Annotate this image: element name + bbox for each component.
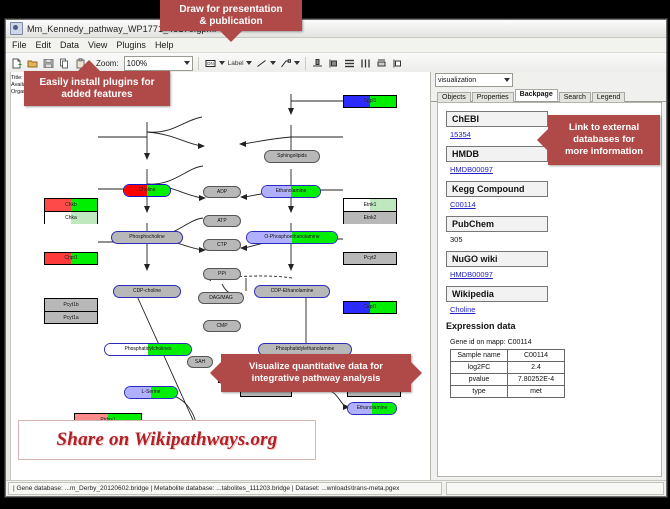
window-titlebar: Mm_Kennedy_pathway_WP1771_45176.gpml bbox=[6, 20, 666, 38]
pathway-canvas[interactable]: Title: Availab Organis bbox=[6, 72, 431, 480]
node-label: Chkb bbox=[65, 202, 77, 208]
size-equal-icon[interactable] bbox=[375, 57, 388, 70]
statusbar-databases: | Gene database: ...m_Derby_20120602.bri… bbox=[8, 482, 442, 495]
menu-item-edit[interactable]: Edit bbox=[36, 40, 52, 50]
node-label: Sgpl1 bbox=[364, 99, 377, 104]
label-button-text: Label bbox=[228, 60, 244, 67]
node-label: L-Serine bbox=[142, 390, 161, 395]
node-label: Ethanolamine bbox=[276, 189, 307, 194]
toolbar-separator bbox=[305, 57, 306, 70]
callout-viz-line1: Visualize quantitative data for bbox=[249, 361, 383, 373]
node-cmp[interactable]: CMP bbox=[203, 320, 241, 332]
toolbar-separator bbox=[198, 57, 199, 70]
table-row: Sample name C00114 bbox=[451, 350, 565, 362]
cell-value: 2.4 bbox=[508, 362, 565, 374]
node-l-serine-left[interactable]: L-Serine bbox=[124, 386, 178, 399]
node-label: PPi bbox=[218, 272, 226, 277]
node-adp[interactable]: ADP bbox=[203, 186, 241, 198]
node-label: DAG/MAG bbox=[209, 296, 233, 301]
menubar: File Edit Data View Plugins Help bbox=[6, 38, 666, 53]
cell-key: Sample name bbox=[451, 350, 508, 362]
visualization-combobox[interactable]: visualization bbox=[435, 73, 513, 87]
nugo-link[interactable]: HMDB00097 bbox=[450, 270, 661, 279]
section-heading: Wikipedia bbox=[446, 286, 548, 302]
node-label: Etnk2 bbox=[364, 215, 377, 221]
section-heading: PubChem bbox=[446, 216, 548, 232]
gene-row-pcyt1b[interactable]: Pcyt1b bbox=[45, 299, 97, 311]
chevron-down-icon bbox=[246, 61, 252, 65]
gene-row-chkb[interactable]: Chkb bbox=[45, 199, 97, 211]
callout-plugins: Easily install plugins for added feature… bbox=[24, 71, 170, 106]
node-o-phosphoethanolamine[interactable]: O-Phosphoethanolamine bbox=[246, 231, 338, 244]
tab-search[interactable]: Search bbox=[559, 92, 591, 102]
node-cdp-ethanolamine[interactable]: CDP-Ethanolamine bbox=[254, 285, 330, 298]
cell-key: type bbox=[451, 386, 508, 398]
pathvisio-app-icon bbox=[10, 22, 23, 35]
expression-table: Sample name C00114 log2FC 2.4 pvalue 7.8… bbox=[450, 349, 565, 398]
label-dropdown[interactable]: Label bbox=[228, 60, 252, 67]
node-label: Chka bbox=[65, 215, 77, 221]
backpage-section-nugo: NuGO wiki HMDB00097 bbox=[446, 249, 661, 279]
tab-legend[interactable]: Legend bbox=[592, 92, 625, 102]
statusbar: | Gene database: ...m_Derby_20120602.bri… bbox=[6, 480, 666, 496]
node-sphingolipids[interactable]: Sphingolipids bbox=[264, 150, 320, 163]
callout-plugins-arrow bbox=[78, 60, 100, 71]
chevron-down-icon bbox=[270, 61, 276, 65]
node-label: Choline bbox=[139, 188, 156, 193]
callout-links: Link to external databases for more info… bbox=[548, 115, 660, 165]
zoom-combobox[interactable]: 100% bbox=[124, 56, 193, 71]
node-label: ADP bbox=[217, 190, 227, 195]
backpage-section-wikipedia: Wikipedia Choline bbox=[446, 284, 661, 314]
tab-properties[interactable]: Properties bbox=[472, 92, 514, 102]
node-label: CDP-Ethanolamine bbox=[271, 289, 314, 294]
align-bottom-icon[interactable] bbox=[311, 57, 324, 70]
zoom-value: 100% bbox=[127, 59, 147, 68]
gene-box-pcyt1[interactable]: Pcyt1b Pcyt1a bbox=[44, 298, 98, 324]
callout-links-line2: databases for bbox=[573, 134, 635, 146]
node-ppi[interactable]: PPi bbox=[203, 268, 241, 280]
callout-share-text: Share on Wikipathways.org bbox=[57, 429, 278, 451]
side-panel-tabs: Objects Properties Backpage Search Legen… bbox=[431, 88, 666, 102]
cell-value: C00114 bbox=[508, 350, 565, 362]
callout-share-banner: Share on Wikipathways.org bbox=[18, 420, 316, 460]
save-icon[interactable] bbox=[42, 57, 55, 70]
node-ethanolamine-top[interactable]: Ethanolamine bbox=[261, 185, 321, 198]
node-label: Pcyt2 bbox=[364, 256, 377, 261]
callout-links-line3: more information bbox=[565, 146, 643, 158]
callout-viz-line2: integrative pathway analysis bbox=[252, 373, 381, 385]
statusbar-right bbox=[446, 482, 664, 495]
gene-row-chka[interactable]: Chka bbox=[45, 211, 97, 224]
section-heading: Kegg Compound bbox=[446, 181, 548, 197]
section-heading: NuGO wiki bbox=[446, 251, 548, 267]
callout-plugins-line2: added features bbox=[61, 89, 132, 101]
node-label: Chpt1 bbox=[64, 256, 77, 261]
node-label: Phosphatidylethanolamine bbox=[276, 347, 335, 352]
copy-icon[interactable] bbox=[58, 57, 71, 70]
callout-links-line1: Link to external bbox=[569, 122, 639, 134]
gene-row-etnk1[interactable]: Etnk1 bbox=[344, 199, 396, 211]
pubchem-value: 305 bbox=[450, 235, 661, 244]
node-label: Ethanolamine bbox=[357, 406, 388, 411]
node-label: ATP bbox=[217, 219, 226, 224]
chevron-down-icon bbox=[184, 61, 190, 65]
callout-visualize: Visualize quantitative data for integrat… bbox=[221, 354, 411, 392]
node-atp[interactable]: ATP bbox=[203, 215, 241, 227]
gene-chpt1[interactable]: Chpt1 bbox=[44, 252, 98, 265]
open-folder-icon[interactable] bbox=[26, 57, 39, 70]
menu-item-file[interactable]: File bbox=[12, 40, 27, 50]
node-label: Etnk1 bbox=[364, 202, 377, 208]
gene-id-line: Gene id on mapp: C00114 bbox=[450, 339, 661, 346]
table-row: type met bbox=[451, 386, 565, 398]
line-icon[interactable] bbox=[255, 57, 268, 70]
node-cdp-choline[interactable]: CDP-choline bbox=[113, 285, 181, 298]
cell-value: met bbox=[508, 386, 565, 398]
menu-item-plugins[interactable]: Plugins bbox=[116, 40, 146, 50]
node-label: CDP-choline bbox=[133, 289, 161, 294]
section-heading: HMDB bbox=[446, 146, 548, 162]
node-label: SAH bbox=[195, 360, 205, 365]
node-ethanolamine-bottom[interactable]: Ethanolamine bbox=[347, 402, 397, 415]
callout-visualize-arrow-left bbox=[210, 362, 221, 384]
hmdb-link[interactable]: HMDB00097 bbox=[450, 165, 661, 174]
menu-item-view[interactable]: View bbox=[88, 40, 107, 50]
gene-box-chk[interactable]: Chkb Chka bbox=[44, 198, 98, 224]
node-ctp[interactable]: CTP bbox=[203, 239, 241, 251]
cell-value: 7.80252E-4 bbox=[508, 374, 565, 386]
tab-backpage[interactable]: Backpage bbox=[515, 89, 558, 101]
table-row: log2FC 2.4 bbox=[451, 362, 565, 374]
node-label: O-Phosphoethanolamine bbox=[264, 235, 319, 240]
menu-item-help[interactable]: Help bbox=[155, 40, 174, 50]
backpage-section-pubchem: PubChem 305 bbox=[446, 214, 661, 244]
gene-pcyt2[interactable]: Pcyt2 bbox=[343, 252, 397, 265]
gene-box-etnk[interactable]: Etnk1 Etnk2 bbox=[343, 198, 397, 224]
node-label: CTP bbox=[217, 243, 227, 248]
align-left-icon[interactable] bbox=[327, 57, 340, 70]
callout-links-arrow bbox=[537, 129, 548, 151]
backpage-section-kegg: Kegg Compound C00114 bbox=[446, 179, 661, 209]
node-phosphatidylcholines[interactable]: Phosphatidylcholines bbox=[104, 343, 192, 356]
tab-objects[interactable]: Objects bbox=[437, 92, 471, 102]
node-label: Phosphocholine bbox=[129, 235, 165, 240]
gene-cept1[interactable]: Cept1 bbox=[343, 301, 397, 314]
callout-draw: Draw for presentation & publication bbox=[160, 0, 302, 31]
interaction-icon[interactable] bbox=[279, 57, 292, 70]
datanode-dropdown[interactable]: DN bbox=[204, 57, 225, 70]
node-label: Sphingolipids bbox=[277, 154, 307, 159]
node-dag-mag[interactable]: DAG/MAG bbox=[198, 292, 244, 304]
node-label: Pcyt1a bbox=[63, 315, 78, 321]
table-row: pvalue 7.80252E-4 bbox=[451, 374, 565, 386]
distribute-horizontal-icon[interactable] bbox=[359, 57, 372, 70]
line-dropdown[interactable] bbox=[255, 57, 276, 70]
callout-visualize-arrow-right bbox=[411, 362, 422, 384]
interaction-dropdown[interactable] bbox=[279, 57, 300, 70]
svg-text:DN: DN bbox=[207, 61, 214, 66]
node-label: Phosphatidylcholines bbox=[125, 347, 172, 352]
cell-key: pvalue bbox=[451, 374, 508, 386]
menu-item-data[interactable]: Data bbox=[60, 40, 79, 50]
stack-vertical-icon[interactable] bbox=[343, 57, 356, 70]
wikipedia-link[interactable]: Choline bbox=[450, 305, 661, 314]
datanode-icon[interactable]: DN bbox=[204, 57, 217, 70]
node-label: CMP bbox=[216, 324, 227, 329]
section-heading: ChEBI bbox=[446, 111, 548, 127]
callout-draw-line1: Draw for presentation bbox=[179, 4, 282, 16]
visualization-value: visualization bbox=[438, 77, 476, 84]
cell-key: log2FC bbox=[451, 362, 508, 374]
chevron-down-icon bbox=[294, 61, 300, 65]
gene-row-etnk2[interactable]: Etnk2 bbox=[344, 211, 396, 224]
callout-plugins-line1: Easily install plugins for bbox=[39, 77, 154, 89]
screenshot-root: Mm_Kennedy_pathway_WP1771_45176.gpml Fil… bbox=[0, 0, 670, 509]
callout-draw-line2: & publication bbox=[199, 16, 262, 28]
node-choline-top[interactable]: Choline bbox=[123, 184, 171, 197]
callout-draw-arrow bbox=[220, 31, 242, 42]
expression-data-title: Expression data bbox=[446, 321, 661, 331]
kegg-link[interactable]: C00114 bbox=[450, 200, 661, 209]
new-file-icon[interactable] bbox=[10, 57, 23, 70]
visualization-row: visualization bbox=[431, 72, 666, 88]
bring-forward-icon[interactable] bbox=[391, 57, 404, 70]
node-label: Cept1 bbox=[363, 305, 376, 310]
node-phosphocholine[interactable]: Phosphocholine bbox=[111, 231, 183, 244]
node-label: Pcyt1b bbox=[63, 302, 78, 308]
gene-row-pcyt1a[interactable]: Pcyt1a bbox=[45, 311, 97, 324]
gene-sgpl1[interactable]: Sgpl1 bbox=[343, 95, 397, 108]
chevron-down-icon bbox=[504, 78, 510, 82]
chevron-down-icon bbox=[219, 61, 225, 65]
